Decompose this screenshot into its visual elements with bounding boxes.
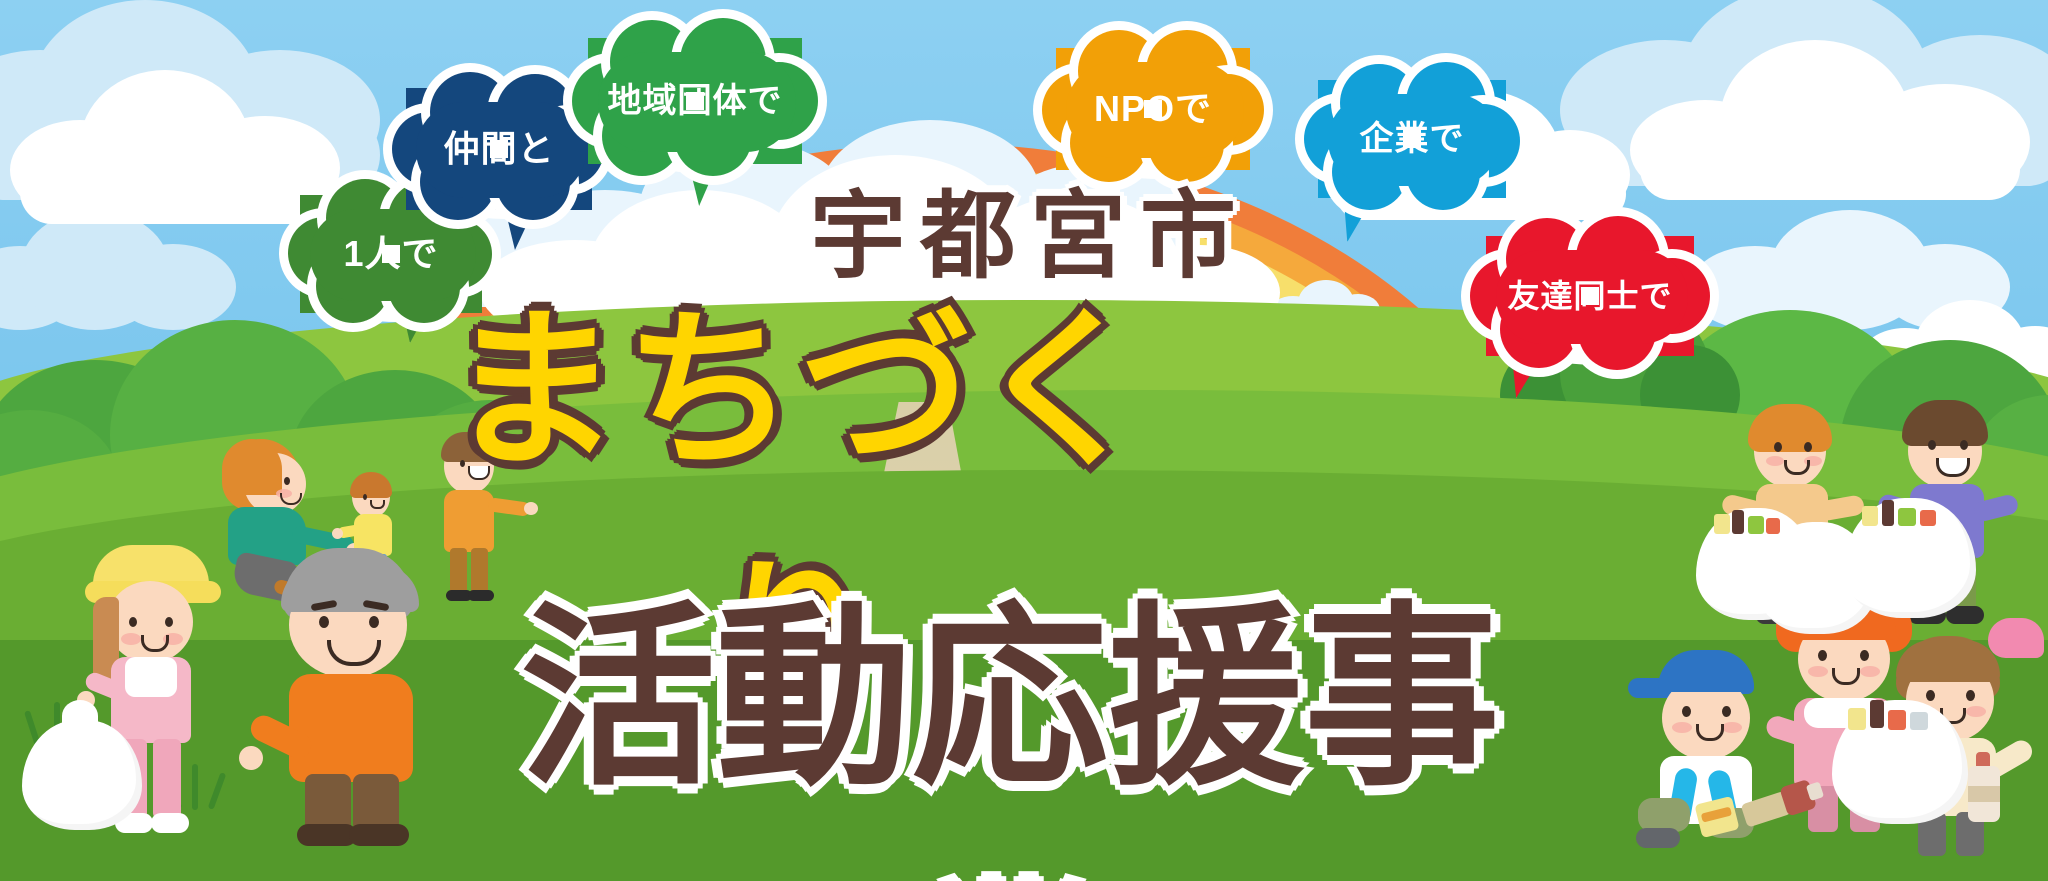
bubble-chiiki[interactable]: 地域団体で [588, 38, 802, 164]
bubble-tomodachi[interactable]: 友達同士で [1486, 236, 1694, 356]
trash-bag-left-1-neck [62, 700, 98, 732]
bubble-tomodachi-label: 友達同士で [1507, 280, 1672, 312]
litter-bottle-right [1964, 752, 2004, 824]
bubble-hitori-label: 1人で [343, 236, 438, 272]
bubble-kigyou[interactable]: 企業で [1318, 80, 1506, 198]
bubble-chiiki-label: 地域団体で [608, 84, 783, 118]
litter-in-bag-3 [1848, 700, 1932, 730]
figure-boy-blue-cap [1628, 648, 1828, 878]
bubble-npo-label: NPOで [1094, 91, 1212, 127]
trash-bag-left-1 [22, 720, 142, 830]
banner-root: 1人で 仲間と 地域団体で [0, 0, 2048, 881]
title-line-2: 活動応援事業 [440, 540, 1580, 881]
litter-in-bag-1 [1712, 510, 1782, 536]
bubble-nakama[interactable]: 仲間と [406, 88, 592, 210]
bubble-nakama-label: 仲間と [443, 131, 554, 167]
litter-in-bag-2 [1862, 500, 1938, 528]
bubble-kigyou-label: 企業で [1360, 122, 1465, 156]
bubble-npo[interactable]: NPOで [1056, 48, 1250, 170]
